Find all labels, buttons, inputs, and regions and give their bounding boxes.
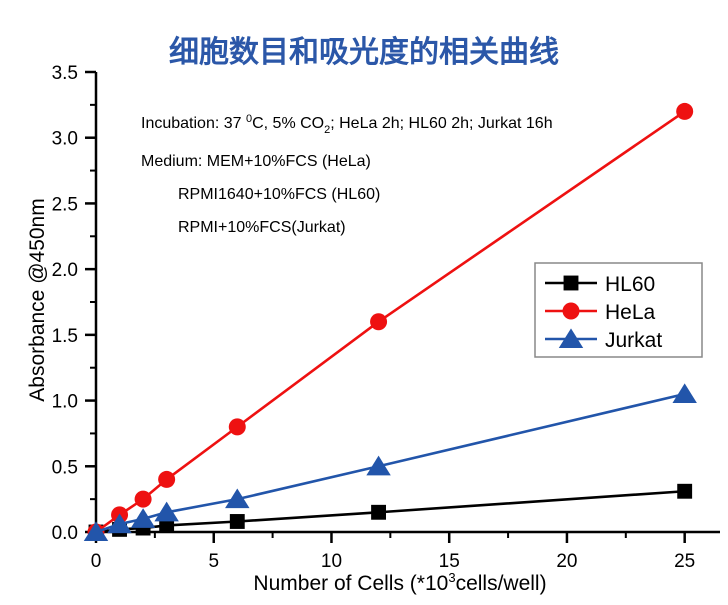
- correlation-curve-chart: 细胞数目和吸光度的相关曲线 Incubation: 37 0C, 5% CO2;…: [0, 0, 728, 605]
- data-point: [135, 491, 152, 508]
- data-point: [371, 505, 386, 520]
- x-tick-label: 25: [674, 551, 695, 572]
- x-tick-label: 0: [91, 551, 102, 572]
- y-tick-label: 3.0: [52, 129, 78, 150]
- x-tick-label: 10: [321, 551, 342, 572]
- legend: HL60HeLaJurkat: [535, 263, 702, 357]
- y-tick-label: 3.5: [52, 63, 78, 84]
- y-axis-title: Absorbance @450nm: [26, 198, 49, 401]
- y-tick-label: 2.0: [52, 260, 78, 281]
- legend-label: Jurkat: [605, 329, 662, 352]
- x-axis-title: Number of Cells (*103cells/well): [253, 570, 546, 595]
- legend-label: HL60: [605, 273, 655, 296]
- legend-marker: [563, 303, 580, 320]
- x-tick-label: 5: [208, 551, 219, 572]
- y-tick-label: 0.0: [52, 523, 78, 544]
- data-point: [230, 514, 245, 529]
- data-point: [677, 484, 692, 499]
- x-tick-label: 20: [556, 551, 577, 572]
- chart-container: 细胞数目和吸光度的相关曲线 Incubation: 37 0C, 5% CO2;…: [0, 0, 728, 605]
- chart-title: 细胞数目和吸光度的相关曲线: [169, 36, 559, 69]
- legend-label: HeLa: [605, 301, 656, 324]
- y-tick-label: 2.5: [52, 194, 78, 215]
- y-tick-label: 1.0: [52, 392, 78, 413]
- y-tick-label: 0.5: [52, 457, 78, 478]
- annotation-line2: Medium: MEM+10%FCS (HeLa): [141, 153, 371, 170]
- x-tick-label: 15: [439, 551, 460, 572]
- data-point: [370, 313, 387, 330]
- data-point: [158, 471, 175, 488]
- annotation-line3: RPMI1640+10%FCS (HL60): [178, 186, 380, 203]
- data-point: [229, 418, 246, 435]
- data-point: [676, 103, 693, 120]
- annotation-line4: RPMI+10%FCS(Jurkat): [178, 219, 346, 236]
- legend-marker: [564, 276, 579, 291]
- y-tick-label: 1.5: [52, 326, 78, 347]
